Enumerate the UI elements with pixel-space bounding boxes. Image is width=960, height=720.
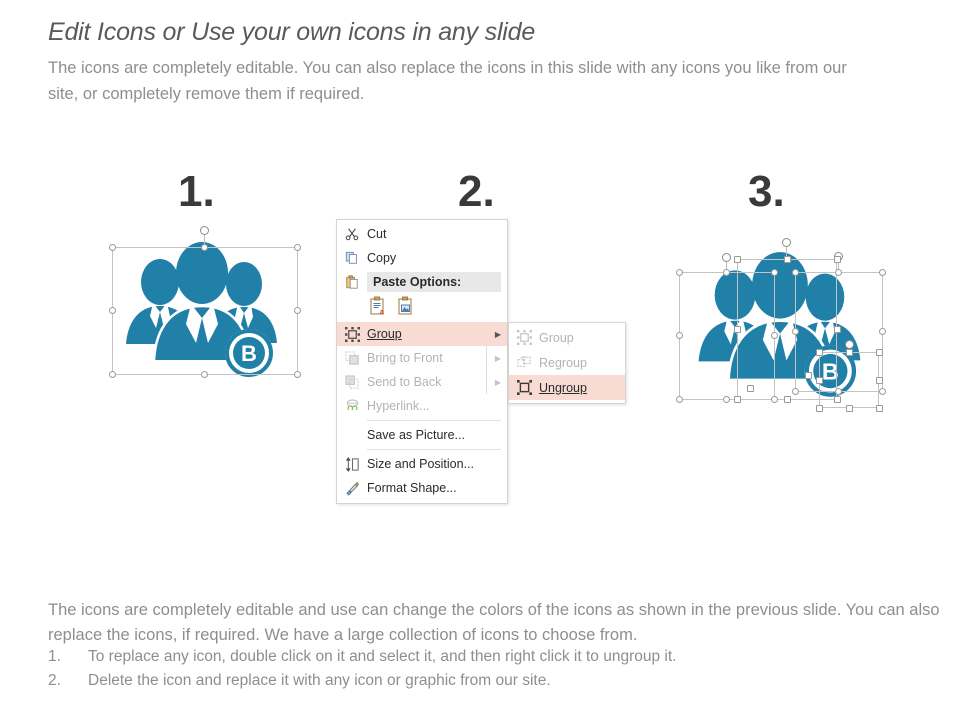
submenu-item-group-label: Group <box>539 331 625 345</box>
menu-divider-1 <box>367 420 501 421</box>
copy-icon <box>337 251 367 265</box>
menu-divider-2 <box>367 449 501 450</box>
selection-handle-3-left-n[interactable] <box>723 269 730 276</box>
selection-handle-3-left-w[interactable] <box>676 332 683 339</box>
selection-handle-nw-1[interactable] <box>109 244 116 251</box>
selection-handle-3-left-ne[interactable] <box>771 269 778 276</box>
menu-item-bring-to-front: Bring to Front ▶ <box>337 346 507 370</box>
footer-list-item-number: 2. <box>48 669 88 693</box>
paste-picture-icon[interactable] <box>397 296 415 321</box>
submenu-item-ungroup-label: Ungroup <box>539 381 625 395</box>
format-shape-icon <box>337 481 367 496</box>
submenu-item-group: Group <box>509 325 625 350</box>
selection-handle-3-left-e[interactable] <box>771 332 778 339</box>
rotation-handle-3-left[interactable] <box>722 253 731 262</box>
page-title: Edit Icons or Use your own icons in any … <box>48 18 535 47</box>
menu-item-cut[interactable]: Cut <box>337 222 507 246</box>
selection-handle-3-badge-sw[interactable] <box>816 405 823 412</box>
selection-handle-3-right-w[interactable] <box>792 328 799 335</box>
selection-handle-sw-1[interactable] <box>109 371 116 378</box>
team-people-icon-3[interactable]: B <box>680 250 880 400</box>
menu-item-size-and-position[interactable]: Size and Position... <box>337 452 507 476</box>
selection-handle-e-1[interactable] <box>294 307 301 314</box>
size-and-position-icon <box>337 457 367 472</box>
selection-handle-3-right-ne[interactable] <box>879 269 886 276</box>
page-subtitle: The icons are completely editable. You c… <box>48 55 878 107</box>
rotation-handle-3-center[interactable] <box>782 238 791 247</box>
footer-list-item-text: Delete the icon and replace it with any … <box>88 669 551 693</box>
footer-paragraph: The icons are completely editable and us… <box>48 598 940 648</box>
context-menu[interactable]: Cut Copy Paste Options: <box>336 219 508 504</box>
selection-handle-3-center-sw[interactable] <box>734 396 741 403</box>
paste-keep-text-only-icon[interactable]: a <box>369 296 387 321</box>
footer-list-item-number: 1. <box>48 645 88 669</box>
menu-item-bring-to-front-label: Bring to Front <box>367 351 489 365</box>
selection-handle-3-right-n[interactable] <box>835 269 842 276</box>
selection-handle-3-right-s[interactable] <box>835 388 842 395</box>
selection-handle-3-center-w[interactable] <box>734 326 741 333</box>
menu-item-paste-options: Paste Options: <box>337 270 507 294</box>
group-icon <box>509 330 539 345</box>
selection-handle-3-badge-s[interactable] <box>846 405 853 412</box>
send-to-back-icon <box>337 375 367 390</box>
selection-handle-se-1[interactable] <box>294 371 301 378</box>
rotation-handle-3-badge[interactable] <box>845 340 854 349</box>
step-number-3: 3. <box>748 170 785 214</box>
menu-item-bring-to-front-arrow: ▶ <box>489 354 507 363</box>
selection-handle-3-right-e[interactable] <box>879 328 886 335</box>
selection-handle-3-center-e[interactable] <box>834 326 841 333</box>
selection-handle-3-badge-se[interactable] <box>876 405 883 412</box>
selection-handle-3-badge-nw[interactable] <box>816 349 823 356</box>
step-number-2: 2. <box>458 170 495 214</box>
blogger-badge-letter: B <box>241 341 257 366</box>
selection-handle-3-left-sw[interactable] <box>676 396 683 403</box>
selection-handle-3-right-nw[interactable] <box>792 269 799 276</box>
footer-list-item: 2. Delete the icon and replace it with a… <box>48 669 940 693</box>
paste-options-row[interactable]: a <box>337 294 507 322</box>
menu-item-divider <box>486 346 487 370</box>
menu-item-send-to-back-label: Send to Back <box>367 375 489 389</box>
selection-handle-3-badge-e[interactable] <box>876 377 883 384</box>
selection-handle-ne-1[interactable] <box>294 244 301 251</box>
menu-item-paste-options-label: Paste Options: <box>367 272 501 292</box>
slide-canvas: Edit Icons or Use your own icons in any … <box>0 0 960 720</box>
menu-item-hyperlink: Hyperlink... <box>337 394 507 418</box>
selection-handle-3-left-s[interactable] <box>723 396 730 403</box>
svg-text:a: a <box>380 309 384 316</box>
menu-item-group-label: Group <box>367 327 489 341</box>
rotation-handle-1[interactable] <box>200 226 209 235</box>
selection-handle-s-1[interactable] <box>201 371 208 378</box>
svg-text:B: B <box>822 359 839 385</box>
selection-handle-3-badge-w[interactable] <box>816 377 823 384</box>
footer-list-item: 1. To replace any icon, double click on … <box>48 645 940 669</box>
footer-list: 1. To replace any icon, double click on … <box>48 645 940 693</box>
menu-item-save-as-picture[interactable]: Save as Picture... <box>337 423 507 447</box>
menu-item-group-arrow: ▶ <box>489 330 507 339</box>
group-icon <box>337 327 367 342</box>
selection-handle-3-right-sw[interactable] <box>792 388 799 395</box>
footer-list-item-text: To replace any icon, double click on it … <box>88 645 676 669</box>
menu-item-copy[interactable]: Copy <box>337 246 507 270</box>
selection-handle-3-center-n[interactable] <box>784 256 791 263</box>
selection-handle-3-center-nw[interactable] <box>734 256 741 263</box>
hyperlink-icon <box>337 399 367 414</box>
menu-item-size-and-position-label: Size and Position... <box>367 457 489 471</box>
ungroup-icon <box>509 380 539 395</box>
menu-item-send-to-back-arrow: ▶ <box>489 378 507 387</box>
selection-handle-3-center-ne[interactable] <box>834 256 841 263</box>
step-number-1: 1. <box>178 170 215 214</box>
scissors-icon <box>337 227 367 241</box>
menu-item-cut-label: Cut <box>367 227 489 241</box>
selection-handle-3-extra-b[interactable] <box>805 372 812 379</box>
menu-item-save-as-picture-label: Save as Picture... <box>367 428 489 442</box>
selection-handle-3-left-nw[interactable] <box>676 269 683 276</box>
selection-handle-3-center-se[interactable] <box>834 396 841 403</box>
menu-item-copy-label: Copy <box>367 251 489 265</box>
selection-handle-3-badge-n[interactable] <box>846 349 853 356</box>
context-submenu-group[interactable]: Group Regroup <box>508 322 626 404</box>
menu-item-format-shape-label: Format Shape... <box>367 481 489 495</box>
menu-item-hyperlink-label: Hyperlink... <box>367 399 489 413</box>
menu-item-group[interactable]: Group ▶ <box>337 322 507 346</box>
selection-handle-3-center-s[interactable] <box>784 396 791 403</box>
selection-handle-w-1[interactable] <box>109 307 116 314</box>
submenu-item-ungroup[interactable]: Ungroup <box>509 375 625 400</box>
submenu-item-regroup: Regroup <box>509 350 625 375</box>
bring-to-front-icon <box>337 351 367 366</box>
submenu-item-regroup-label: Regroup <box>539 356 625 370</box>
menu-item-send-to-back: Send to Back ▶ <box>337 370 507 394</box>
selection-handle-3-extra-a[interactable] <box>747 385 754 392</box>
selection-handle-3-right-se[interactable] <box>879 388 886 395</box>
menu-item-format-shape[interactable]: Format Shape... <box>337 476 507 500</box>
selection-handle-n-1[interactable] <box>201 244 208 251</box>
regroup-icon <box>509 355 539 370</box>
menu-item-divider <box>486 370 487 394</box>
team-people-icon-1[interactable]: B <box>112 240 292 380</box>
paste-icon <box>337 275 367 290</box>
selection-handle-3-badge-ne[interactable] <box>876 349 883 356</box>
selection-handle-3-left-se[interactable] <box>771 396 778 403</box>
